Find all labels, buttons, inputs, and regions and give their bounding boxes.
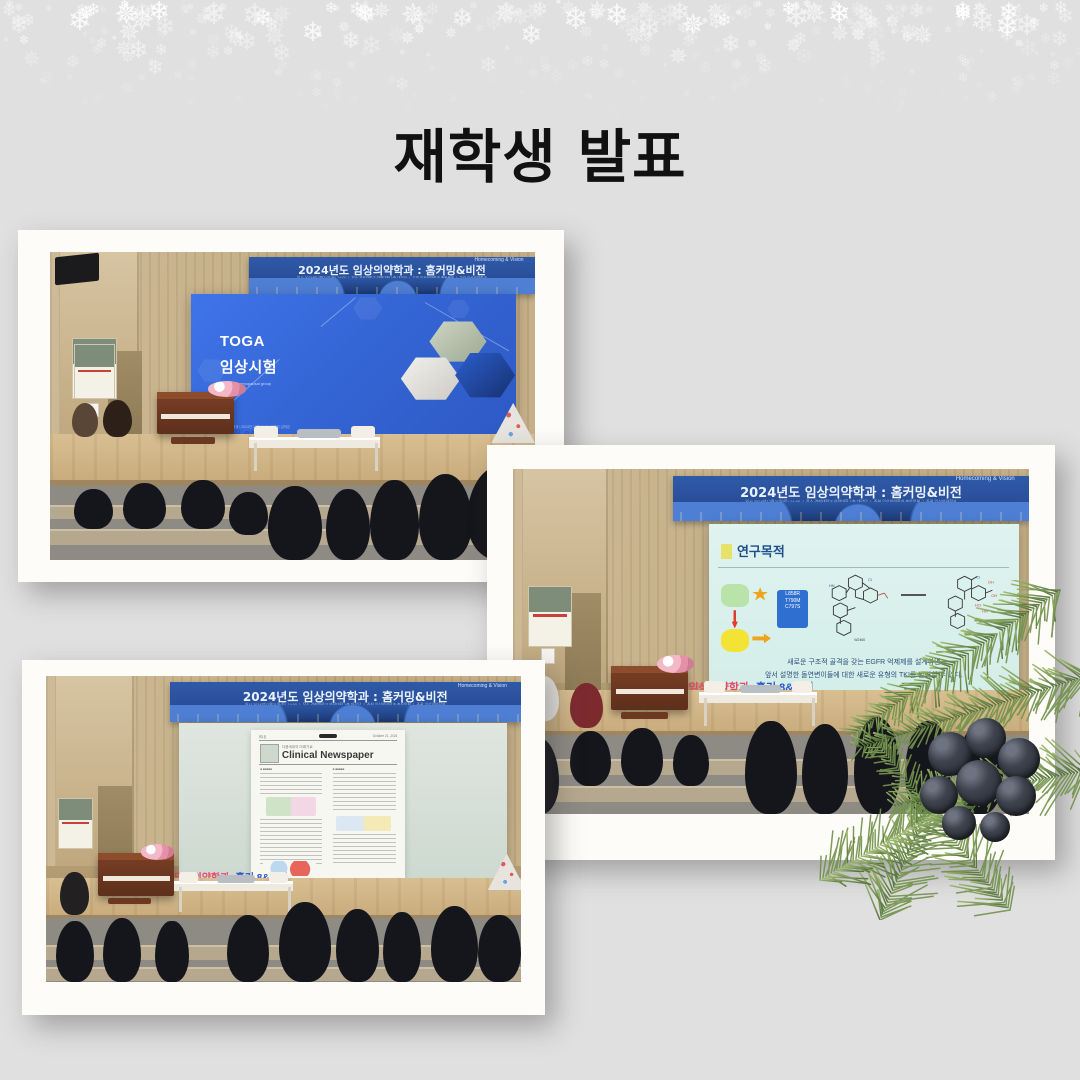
snowflake-icon: ❄ <box>349 0 366 20</box>
snowflake-icon: ❄ <box>793 1 801 10</box>
audience-head <box>957 724 1003 814</box>
slide-body-line-2: 앞서 설명한 돌연변이들에 대한 새로운 유형의 TKI를 발견할 수 있다. <box>709 670 1019 680</box>
newspaper-col-head-right: ■ ■■■■■ <box>333 767 345 771</box>
snowflake-icon: ❄ <box>721 9 728 18</box>
snowflake-icon: ✵ <box>413 22 426 37</box>
reaction-arrow <box>901 594 926 596</box>
snowflake-icon: ❄ <box>186 3 194 12</box>
hex-deco-1 <box>353 297 382 321</box>
newspaper-image-pills <box>266 797 315 816</box>
snowflake-icon: ❄ <box>1074 43 1080 62</box>
snowflake-icon: ❄ <box>66 54 80 71</box>
snowflake-icon: ✵ <box>1026 72 1037 85</box>
snowflake-icon: ❄ <box>605 1 630 30</box>
snowflake-icon: ✵ <box>205 31 221 50</box>
snowflake-icon: ✵ <box>126 37 138 51</box>
snowflake-icon: ❄ <box>361 34 382 59</box>
stage-table-3 <box>174 881 293 891</box>
molecule-structure-left: Cl HN W2460 <box>814 574 894 644</box>
snowflake-icon: ✵ <box>315 30 322 39</box>
snowflake-icon: ❄ <box>79 4 94 22</box>
snowflake-icon: ❄ <box>721 33 741 57</box>
snowflake-icon: ❄ <box>147 59 163 79</box>
snowflake-icon: ✵ <box>891 26 900 37</box>
snowflake-icon: ❄ <box>598 58 610 73</box>
snowflake-icon: ✵ <box>154 88 160 96</box>
snowflake-icon: ❄ <box>41 78 47 85</box>
piano-bench-3 <box>108 898 151 904</box>
snowflake-icon: ✵ <box>331 76 342 89</box>
snowflake-icon: ✵ <box>587 93 594 101</box>
snowflake-icon: ❄ <box>5 0 14 11</box>
piano-bench-1 <box>171 437 215 444</box>
snowflake-icon: ✵ <box>337 20 350 35</box>
audience-head <box>268 486 321 560</box>
snowflake-icon: ✵ <box>1016 4 1021 10</box>
snowflake-icon: ✵ <box>218 2 228 14</box>
snowflake-icon: ❄ <box>956 10 962 17</box>
audience-head <box>56 921 94 982</box>
snowflake-icon: ✵ <box>896 86 907 100</box>
event-banner-1: Homecoming & Vision 2024년도 임상의약학과 : 홈커밍&… <box>249 257 535 294</box>
snowflake-icon: ❄ <box>657 1 682 31</box>
snowflake-icon: ❄ <box>253 6 272 29</box>
snowflake-icon: ✵ <box>234 31 243 42</box>
snowflake-icon: ❄ <box>236 94 243 102</box>
snowflake-icon: ❄ <box>520 22 543 49</box>
snowflake-icon: ✵ <box>757 67 765 77</box>
snowflake-icon: ❄ <box>497 1 517 25</box>
audience-head <box>229 492 268 535</box>
snowflake-icon: ❄ <box>274 69 282 79</box>
snowflake-icon: ❄ <box>272 42 292 66</box>
snowflake-icon: ❄ <box>92 92 104 107</box>
mutation-box: L858R T790M C797S <box>777 590 808 627</box>
snowflake-icon: ❄ <box>966 55 977 68</box>
snowflake-icon: ❄ <box>39 69 53 86</box>
snowflake-icon: ❄ <box>487 72 499 87</box>
snowflake-icon: ❄ <box>452 97 458 104</box>
newspaper-col-head-left: ■ ■■■■■ <box>260 767 272 771</box>
snowflake-icon: ❄ <box>793 31 807 47</box>
snowflake-icon: ✵ <box>118 19 140 45</box>
slide-shape-green <box>721 584 749 607</box>
snowflake-icon: ❄ <box>484 12 502 34</box>
snowflake-icon: ✵ <box>669 45 688 68</box>
snowflake-icon: ❄ <box>76 3 88 17</box>
snowflake-icon: ❄ <box>410 7 430 31</box>
snowflake-icon: ✵ <box>681 10 705 38</box>
slide-body-line-1: 새로운 구조적 골격을 갖는 EGFR 억제제를 설계하면 <box>709 657 1019 667</box>
snowflake-icon: ❄ <box>236 30 257 55</box>
photo-frame-2[interactable]: Homecoming & Vision 2024년도 임상의약학과 : 홈커밍&… <box>487 445 1055 860</box>
snowflake-icon: ❄ <box>187 75 195 84</box>
snowflake-icon: ✵ <box>822 18 828 25</box>
snowflake-icon: ❄ <box>888 2 907 25</box>
snowflake-icon: ❄ <box>965 65 971 73</box>
table-prop-1 <box>254 426 278 438</box>
audience-head <box>570 731 611 786</box>
snowflake-icon: ❄ <box>1046 70 1062 89</box>
piano-1 <box>157 392 235 434</box>
slide-divider-2 <box>718 567 1009 568</box>
audience-head <box>336 909 379 982</box>
audience-head <box>745 721 797 814</box>
snowflake-icon: ❄ <box>809 1 820 14</box>
snowflake-icon: ✵ <box>39 78 46 86</box>
snowflake-icon: ❄ <box>975 81 984 92</box>
snowflake-icon: ❄ <box>863 20 886 48</box>
snowflake-icon: ✵ <box>189 27 197 36</box>
photo-frame-1[interactable]: Homecoming & Vision 2024년도 임상의약학과 : 홈커밍&… <box>18 230 564 582</box>
snowflake-icon: ❄ <box>1006 15 1012 22</box>
snowflake-icon: ❄ <box>970 7 995 37</box>
table-prop-3 <box>792 681 813 693</box>
snowflake-icon: ❄ <box>723 101 730 109</box>
wall-frame-photo <box>74 344 115 398</box>
snowflake-icon: ❄ <box>999 0 1025 31</box>
snowflake-icon: ✵ <box>579 23 594 41</box>
svg-text:OH: OH <box>988 579 994 584</box>
slide-heading-2: 연구목적 <box>737 541 785 560</box>
snowflake-icon: ✵ <box>493 0 517 29</box>
snowflake-icon: ❄ <box>137 74 145 84</box>
snowflake-icon: ❄ <box>811 24 823 38</box>
snowflake-icon: ❄ <box>10 13 25 31</box>
snowflake-icon: ❄ <box>629 10 645 29</box>
photo-frame-3[interactable]: Homecoming & Vision 2024년도 임상의약학과 : 홈커밍&… <box>22 660 545 1015</box>
snowflake-icon: ❄ <box>979 49 984 55</box>
banner-cityscape-2 <box>673 502 1029 521</box>
snowflake-icon: ❄ <box>513 7 523 19</box>
snowflake-icon: ✵ <box>638 43 653 61</box>
snowflake-icon: ✵ <box>225 27 246 51</box>
snowflake-icon: ❄ <box>505 46 510 52</box>
snowflake-icon: ❄ <box>954 4 972 25</box>
photo-2: Homecoming & Vision 2024년도 임상의약학과 : 홈커밍&… <box>513 469 1029 814</box>
svg-text:HO: HO <box>975 602 981 607</box>
snowflake-icon: ❄ <box>677 21 690 36</box>
snowflake-icon: ❄ <box>206 43 221 61</box>
snowflake-icon: ❄ <box>974 2 983 13</box>
snowflake-icon: ❄ <box>581 54 594 69</box>
snowflake-icon: ❄ <box>639 94 646 103</box>
snowflake-icon: ❄ <box>702 17 708 24</box>
snowflake-icon: ✵ <box>626 24 648 50</box>
snowflake-icon: ❄ <box>187 99 197 110</box>
snowflake-icon: ❄ <box>684 26 701 46</box>
snowflake-icon: ✵ <box>263 23 285 49</box>
snowflake-icon: ✵ <box>587 0 608 25</box>
hall-scene-1: Homecoming & Vision 2024년도 임상의약학과 : 홈커밍&… <box>50 252 535 560</box>
snowflake-icon: ❄ <box>86 2 100 19</box>
snowflake-icon: ❄ <box>699 61 712 77</box>
snowflake-icon: ✵ <box>661 22 666 28</box>
snowflake-icon: ❄ <box>325 1 338 16</box>
snowflake-icon: ❄ <box>840 76 853 91</box>
snowflake-icon: ❄ <box>187 58 198 71</box>
snowflake-icon: ✵ <box>1010 80 1024 96</box>
slide-heading-en-1: TOGA <box>220 333 265 350</box>
snowflake-icon: ❄ <box>958 54 967 65</box>
snowflake-icon: ❄ <box>475 23 485 35</box>
snowflake-icon: ❄ <box>341 30 360 52</box>
snowflake-icon: ✵ <box>785 3 791 10</box>
audience-head <box>326 489 370 560</box>
slide-arrow-yellow <box>752 633 771 643</box>
snowflake-icon: ✵ <box>865 14 882 35</box>
svg-text:HN: HN <box>982 608 988 613</box>
snowflake-icon: ❄ <box>944 26 952 36</box>
banner-cityscape-1 <box>249 278 535 294</box>
snowflake-icon: ❄ <box>901 25 909 35</box>
snowflake-icon: ❄ <box>157 26 170 42</box>
snowflake-icon: ❄ <box>527 67 539 81</box>
snowflake-icon: ❄ <box>341 29 360 52</box>
snowflake-icon: ✵ <box>148 58 154 66</box>
newspaper-column-right-2 <box>333 834 396 864</box>
snowflake-icon: ❄ <box>68 7 92 36</box>
snowflake-icon: ❄ <box>277 60 289 74</box>
snowflake-icon: ❄ <box>869 61 877 71</box>
piano-bench-2 <box>621 712 667 719</box>
snowflake-icon: ❄ <box>346 61 355 72</box>
snowflake-icon: ✵ <box>588 5 604 24</box>
snowflake-icon: ❄ <box>845 18 853 28</box>
snowflake-icon: ❄ <box>180 4 189 15</box>
newspaper-column-left <box>260 773 322 794</box>
newspaper-rule-mid <box>259 764 398 765</box>
snowflake-icon: ❄ <box>781 0 796 18</box>
snowflake-icon: ❄ <box>735 9 741 17</box>
photo-3: Homecoming & Vision 2024년도 임상의약학과 : 홈커밍&… <box>46 676 521 982</box>
snowflake-icon: ❄ <box>783 1 809 32</box>
snowflake-icon: ❄ <box>885 4 893 14</box>
stage-table-2 <box>699 692 818 703</box>
page-title: 재학생 발표 <box>0 110 1080 194</box>
snowflake-icon: ✵ <box>298 91 304 98</box>
snowflake-icon: ❄ <box>662 63 667 69</box>
slide-arrow-red <box>732 610 738 628</box>
snowflake-icon: ✵ <box>899 21 918 44</box>
snowflake-icon: ✵ <box>786 37 802 56</box>
snowflake-icon: ✵ <box>584 92 593 103</box>
snowflake-icon: ❄ <box>1040 32 1052 46</box>
snowflake-icon: ✵ <box>120 81 133 97</box>
snowflake-icon: ✵ <box>63 98 68 104</box>
snowflake-icon: ✵ <box>560 0 577 20</box>
photo-1: Homecoming & Vision 2024년도 임상의약학과 : 홈커밍&… <box>50 252 535 560</box>
event-banner-3: Homecoming & Vision 2024년도 임상의약학과 : 홈커밍&… <box>170 682 522 722</box>
snowflake-icon: ❄ <box>155 43 168 59</box>
snowflake-icon: ✵ <box>1034 51 1040 58</box>
snowflake-icon: ❄ <box>987 91 996 101</box>
snowflake-icon: ❄ <box>131 2 153 28</box>
audience-head <box>478 915 521 982</box>
snowflake-icon: ❄ <box>96 37 108 51</box>
snowflake-icon: ❄ <box>828 0 851 27</box>
snowflake-icon: ❄ <box>954 56 964 68</box>
snowflake-icon: ❄ <box>730 80 740 92</box>
snowflake-icon: ❄ <box>556 0 562 7</box>
snowflake-icon: ❄ <box>387 75 397 87</box>
snowflake-icon: ❄ <box>264 9 287 36</box>
snowflake-icon: ❄ <box>669 0 690 25</box>
snowflake-icon: ❄ <box>999 26 1015 45</box>
projection-screen-1: TOGA 임상시험 A 36 year menopausal group 임상의… <box>191 294 516 442</box>
newspaper-emblem <box>319 734 337 738</box>
snowflake-icon: ✵ <box>195 10 210 28</box>
snowflake-icon: ❄ <box>532 0 549 20</box>
wall-poster <box>58 798 93 849</box>
flower-vase-2 <box>657 655 693 672</box>
svg-text:W2460: W2460 <box>855 638 866 642</box>
banner-cityscape-3 <box>170 705 522 722</box>
flower-vase-1 <box>208 381 247 396</box>
snowflake-icon: ❄ <box>868 45 887 68</box>
hex-photo-medicine <box>401 356 461 401</box>
newspaper-issue-right: October 21, 2024 <box>373 734 398 738</box>
snowflake-icon: ❄ <box>803 0 811 10</box>
hall-scene-3: Homecoming & Vision 2024년도 임상의약학과 : 홈커밍&… <box>46 676 521 982</box>
snowflake-icon: ❄ <box>519 89 526 97</box>
snowflake-icon: ❄ <box>864 14 878 31</box>
snowflake-icon: ✵ <box>23 49 41 70</box>
snowflake-icon: ❄ <box>908 0 926 22</box>
flower-vase-3 <box>141 844 174 859</box>
snowflake-icon: ✵ <box>99 5 106 14</box>
snowflake-icon: ❄ <box>648 10 662 27</box>
snowflake-icon: ❄ <box>479 55 497 76</box>
snowflake-icon: ❄ <box>754 52 767 67</box>
snowflake-icon: ✵ <box>349 93 360 106</box>
snowflake-icon: ❄ <box>264 17 278 34</box>
snowflake-icon: ✵ <box>129 4 155 35</box>
snowflake-icon: ❄ <box>540 61 552 75</box>
snowflake-icon: ✵ <box>802 0 826 29</box>
snowflake-icon: ❄ <box>355 2 375 25</box>
snowflake-icon: ✵ <box>848 18 867 41</box>
deco-line-2 <box>320 297 355 327</box>
snowflake-icon: ✵ <box>120 49 135 67</box>
table-leg <box>704 698 707 726</box>
snowflake-icon: ✵ <box>82 98 89 106</box>
snowflake-icon: ✵ <box>884 13 900 32</box>
snowflake-icon: ❄ <box>1054 0 1068 17</box>
snowflake-icon: ❄ <box>360 49 367 58</box>
projection-screen-2: 연구목적 L858R T790M C797S <box>709 524 1019 690</box>
snowflake-icon: ❄ <box>794 46 813 68</box>
slide-bullet-marker <box>721 544 732 559</box>
snowflake-icon: ❄ <box>201 0 226 30</box>
snowflake-icon: ✵ <box>46 80 52 88</box>
snowflake-icon: ❄ <box>1061 55 1075 72</box>
snowflake-icon: ❄ <box>146 2 156 14</box>
snowflake-icon: ❄ <box>1028 17 1041 32</box>
snowflake-icon: ❄ <box>714 46 722 55</box>
snowflake-icon: ❄ <box>723 38 736 54</box>
snowflake-icon: ❄ <box>914 7 923 17</box>
snowflake-icon: ❄ <box>563 4 589 35</box>
wall-poster <box>528 586 571 647</box>
snowflake-icon: ❄ <box>2 3 16 20</box>
snowflake-icon: ✵ <box>909 69 915 76</box>
snowflake-icon: ❄ <box>223 45 234 58</box>
table-leg <box>254 443 257 471</box>
snowflake-icon: ❄ <box>313 71 323 83</box>
snowflake-icon: ❄ <box>154 15 175 40</box>
snowflake-icon: ❄ <box>857 5 874 25</box>
snowflake-icon: ✵ <box>114 0 139 30</box>
snowflake-icon: ❄ <box>10 15 29 38</box>
snowflake-icon: ❄ <box>731 58 742 72</box>
snowflake-icon: ❄ <box>756 0 764 9</box>
hex-image-cluster-1 <box>369 320 512 432</box>
snowflake-icon: ❄ <box>941 91 947 98</box>
mutation-3: C797S <box>777 604 808 610</box>
snowflake-icon: ❄ <box>426 18 434 28</box>
snowflake-icon: ✵ <box>874 95 883 106</box>
snowflake-icon: ❄ <box>506 17 513 26</box>
snowflake-icon: ❄ <box>66 73 73 81</box>
snowflake-icon: ❄ <box>616 11 640 40</box>
snowflake-icon: ❄ <box>757 57 773 76</box>
snowflake-icon: ❄ <box>148 0 170 26</box>
snowflake-icon: ✵ <box>111 36 117 43</box>
snowflake-icon: ❄ <box>538 53 551 68</box>
snowflake-icon: ❄ <box>566 59 579 74</box>
snowflake-icon: ❄ <box>543 64 551 74</box>
snowflake-icon: ❄ <box>173 70 183 82</box>
snowflake-icon: ✵ <box>3 36 9 44</box>
newspaper-issue-left: 제1호 <box>259 734 267 739</box>
svg-text:OH: OH <box>991 593 997 598</box>
snowflake-icon: ❄ <box>1012 75 1025 90</box>
molecule-structure-right: OHOH HOHN Cl <box>929 574 1009 644</box>
snowflake-icon: ✵ <box>636 1 656 25</box>
snowflake-icon: ❄ <box>21 12 35 29</box>
snowflake-icon: ❄ <box>878 77 884 84</box>
snowflake-icon: ❄ <box>682 33 696 50</box>
snowflake-icon: ✵ <box>331 81 344 97</box>
snowflake-icon: ✵ <box>955 19 965 30</box>
presenter-2b <box>570 683 604 728</box>
snowflake-icon: ❄ <box>1018 38 1038 62</box>
snowflake-icon: ✵ <box>445 26 458 41</box>
snowflake-icon: ❄ <box>600 43 610 55</box>
snowflake-icon: ❄ <box>708 13 726 34</box>
table-prop-3 <box>269 872 288 883</box>
snowflake-icon: ❄ <box>831 0 839 9</box>
snowflake-icon: ❄ <box>643 32 653 44</box>
newspaper-logo <box>260 744 279 762</box>
newspaper-image-chart <box>336 816 391 831</box>
snowflake-icon: ❄ <box>890 30 896 37</box>
snowflake-icon: ❄ <box>987 26 994 34</box>
poster-canvas: ❄❄❄❄❄❄❄✵✵✵✵❄❄❄❄❄❄❄❄❄❄❄❄❄❄❄✵❄❄❄❄✵❄❄❄❄❄❄❄❄… <box>0 0 1080 1080</box>
snowflake-icon: ✵ <box>387 24 407 48</box>
snowflake-icon: ❄ <box>302 19 324 46</box>
snowflake-icon: ❄ <box>958 71 969 84</box>
audience-head <box>181 480 225 529</box>
snowflake-icon: ❄ <box>1015 12 1039 41</box>
table-leg <box>812 698 815 726</box>
snowflake-icon: ❄ <box>120 0 130 11</box>
table-prop-1 <box>179 872 198 883</box>
snowflake-icon: ✵ <box>115 39 133 61</box>
snowflake-icon: ✵ <box>400 0 426 31</box>
audience-head <box>155 921 188 982</box>
